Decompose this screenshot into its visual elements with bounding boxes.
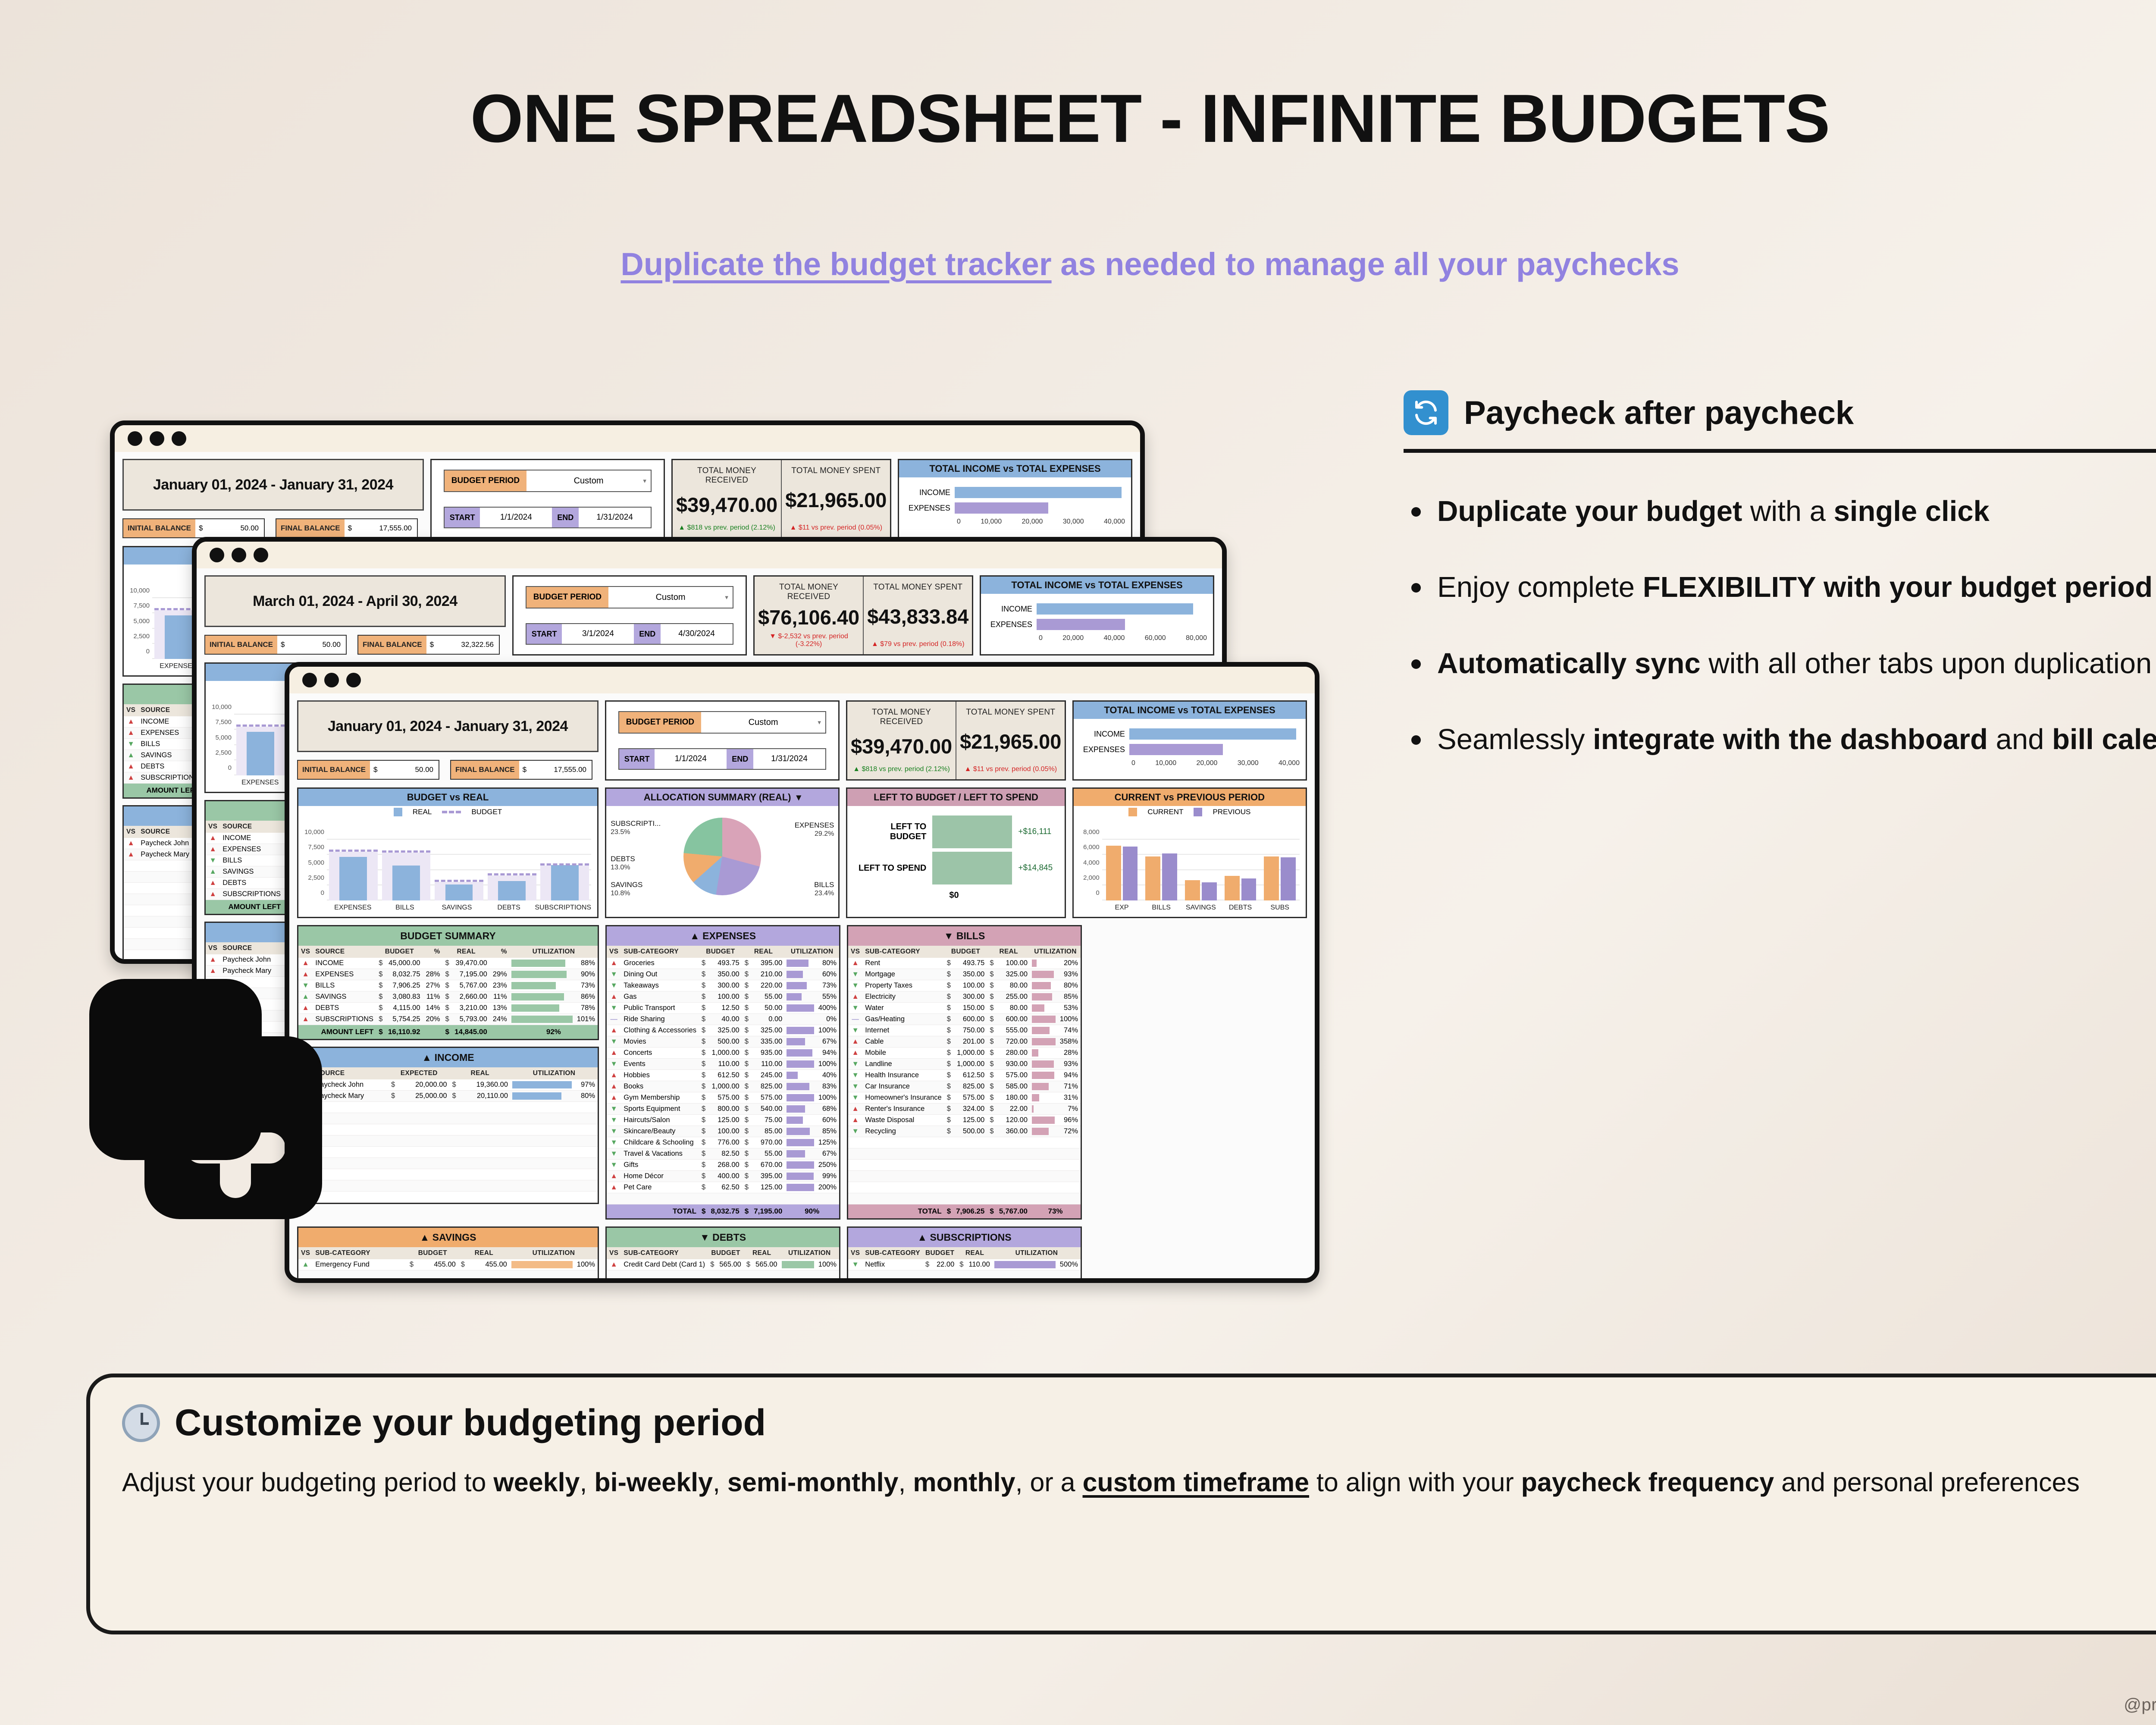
cell-real: 395.00 — [751, 1171, 785, 1182]
table-income: ▲ INCOMEVSSOURCEEXPECTEDREALUTILIZATION▲… — [297, 1047, 599, 1204]
close-icon[interactable] — [128, 431, 142, 446]
cell-util-value: 100% — [816, 1059, 839, 1070]
total-money-received: TOTAL MONEY RECEIVED$39,470.00▲ $818 vs … — [673, 460, 781, 538]
cell-util-value: 80% — [575, 1091, 598, 1102]
window-titlebar[interactable] — [197, 542, 1222, 568]
table-row: ▲Rent$493.75$100.0020% — [848, 958, 1081, 969]
cell-cur: $ — [944, 1003, 953, 1014]
cell-cur: $ — [944, 980, 953, 991]
table-expenses: ▲ EXPENSESVSSUB-CATEGORYBUDGETREALUTILIZ… — [605, 925, 840, 1220]
y-tick: 10,000 — [207, 703, 232, 711]
cell-vs: — — [848, 1014, 862, 1025]
cell-name: Waste Disposal — [862, 1115, 944, 1126]
cell-util-bar — [785, 958, 815, 969]
cell-util-value: 100% — [816, 1025, 839, 1036]
x-tick: 40,000 — [1104, 518, 1125, 526]
bullet-dot — [1411, 659, 1421, 669]
cell-real: 120.00 — [997, 1115, 1030, 1126]
cell-budget: 22.00 — [932, 1259, 957, 1270]
sync-refresh-icon — [1404, 390, 1448, 435]
cell-vs: ▼ — [848, 1025, 862, 1036]
maximize-icon[interactable] — [254, 548, 268, 562]
cell-util-bar — [785, 1182, 815, 1193]
cell-cur2: $ — [742, 1048, 751, 1059]
cell-cur2: $ — [987, 969, 996, 980]
start-end-dates[interactable]: START1/1/2024END1/31/2024 — [444, 507, 652, 528]
cell-cur2: $ — [987, 1126, 996, 1137]
x-tick: 60,000 — [1145, 634, 1166, 642]
cell-cur: $ — [944, 1115, 953, 1126]
legend-real: REAL — [413, 808, 432, 816]
cell-budget: 776.00 — [708, 1137, 742, 1148]
cell-cur2: $ — [987, 991, 996, 1003]
bar-previous — [1123, 847, 1138, 900]
table-row-empty — [848, 1193, 1081, 1204]
cell-cur2: $ — [742, 1059, 751, 1070]
bar-real — [498, 881, 526, 900]
cell-real: 22.00 — [997, 1104, 1030, 1115]
cell-cur: $ — [389, 1079, 398, 1091]
cell-cur2: $ — [987, 1059, 996, 1070]
table-row-empty — [607, 1282, 839, 1283]
window-titlebar[interactable] — [289, 667, 1315, 693]
callout-title: Customize your budgeting period — [175, 1402, 766, 1444]
cell-real: 19,360.00 — [459, 1079, 511, 1091]
cell-real: 930.00 — [997, 1059, 1030, 1070]
table-title: BUDGET SUMMARY — [298, 926, 598, 946]
cell-util-value: 88% — [574, 958, 598, 969]
table-row-empty — [848, 1148, 1081, 1160]
cell-util-bar — [785, 1059, 815, 1070]
cell-real: 255.00 — [997, 991, 1030, 1003]
chart-title: CURRENT vs PREVIOUS PERIOD — [1074, 789, 1306, 806]
cell-rpct: 13% — [490, 1003, 510, 1014]
y-tick: 2,000 — [1075, 874, 1100, 881]
start-end-dates[interactable]: START1/1/2024END1/31/2024 — [618, 748, 826, 770]
customize-period-callout: Customize your budgeting period Adjust y… — [86, 1374, 2156, 1634]
cell-cur2: $ — [458, 1259, 467, 1270]
cell-util-bar — [510, 1014, 574, 1025]
clock-icon — [122, 1404, 160, 1442]
money-totals: TOTAL MONEY RECEIVED$39,470.00▲ $818 vs … — [846, 700, 1066, 781]
cell-real: 575.00 — [751, 1092, 785, 1104]
pie-label: BILLS23.4% — [814, 880, 834, 898]
table-row: ▲Books$1,000.00$825.0083% — [607, 1081, 839, 1092]
cell-cur2: $ — [443, 991, 452, 1003]
cell-name: Renter's Insurance — [862, 1104, 944, 1115]
cell-cur: $ — [944, 1081, 953, 1092]
close-icon[interactable] — [210, 548, 224, 562]
pie-label: SUBSCRIPTI...23.5% — [611, 819, 661, 837]
cell-vs: ▲ — [848, 1115, 862, 1126]
cell-budget: 350.00 — [708, 969, 742, 980]
cell-util-value: 100% — [574, 1259, 598, 1270]
col-real: REAL — [443, 946, 490, 958]
cell-real: 39,470.00 — [452, 958, 490, 969]
chart-title[interactable]: ALLOCATION SUMMARY (REAL) ▾ — [606, 789, 838, 806]
cell-util-value: 31% — [1057, 1092, 1081, 1104]
cell-name: INCOME — [313, 958, 376, 969]
table-row-empty — [298, 1270, 598, 1282]
table-row: ▲Gas$100.00$55.0055% — [607, 991, 839, 1003]
cell-vs: ▼ — [607, 969, 621, 980]
cell-cur2: $ — [742, 969, 751, 980]
y-tick: 5,000 — [125, 618, 150, 625]
cell-vs: ▼ — [848, 1081, 862, 1092]
cell-util-value: 100% — [816, 1259, 839, 1270]
table-row: ▼Recycling$500.00$360.0072% — [848, 1126, 1081, 1137]
cell-budget: 4,115.00 — [385, 1003, 423, 1014]
cell-util-bar — [785, 1126, 815, 1137]
cell-util-value: 55% — [816, 991, 839, 1003]
chart-title: TOTAL INCOME vs TOTAL EXPENSES — [981, 577, 1213, 594]
x-tick: SAVINGS — [1181, 904, 1221, 912]
cell-util-value: 53% — [1057, 1003, 1081, 1014]
cell-vs: ▲ — [206, 966, 220, 977]
date-range-block: March 01, 2024 - April 30, 2024INITIAL B… — [204, 575, 506, 655]
cell-util-bar — [1030, 958, 1057, 969]
cell-real: 5,793.00 — [452, 1014, 490, 1025]
cell-cur2: $ — [742, 1137, 751, 1148]
table-row: ▲Hobbies$612.50$245.0040% — [607, 1070, 839, 1081]
cell-cur: $ — [389, 1091, 398, 1102]
callout-bold-paycheck-frequency: paycheck frequency — [1521, 1468, 1774, 1497]
cell-cur: $ — [699, 1092, 708, 1104]
x-tick: 0 — [1131, 759, 1135, 767]
table-footer: TOTAL$7,906.25$5,767.0073% — [848, 1204, 1081, 1219]
cell-budget: 62.50 — [708, 1182, 742, 1193]
bar-previous — [1162, 853, 1177, 900]
cell-real: 80.00 — [997, 1003, 1030, 1014]
footer-label: AMOUNT LEFT — [206, 900, 283, 914]
final-balance: FINAL BALANCE$17,555.00 — [276, 518, 418, 538]
pie-label: DEBTS13.0% — [611, 854, 635, 872]
cell-vs: ▲ — [607, 1048, 621, 1059]
cell-rpct: 24% — [490, 1014, 510, 1025]
y-tick: 5,000 — [207, 734, 232, 741]
sheet-top-row: January 01, 2024 - January 31, 2024INITI… — [297, 700, 1307, 781]
cell-name: BILLS — [220, 855, 283, 866]
cell-vs: ▲ — [607, 1259, 621, 1270]
cell-vs: ▲ — [124, 750, 138, 761]
budget-period-select[interactable]: BUDGET PERIODCustom — [444, 470, 652, 492]
cell-budget: 110.00 — [708, 1059, 742, 1070]
spreadsheet-window[interactable]: January 01, 2024 - January 31, 2024INITI… — [285, 662, 1319, 1283]
features-panel: Paycheck after paycheck Duplicate your b… — [1404, 390, 2156, 797]
cell-budget: 325.00 — [708, 1025, 742, 1036]
cell-vs: ▼ — [607, 1126, 621, 1137]
x-tick: 40,000 — [1279, 759, 1300, 767]
cell-cur2: $ — [443, 958, 452, 969]
cell-budget: 8,032.75 — [385, 969, 423, 980]
cell-util-bar — [785, 991, 815, 1003]
cell-cur2: $ — [443, 969, 452, 980]
table-row: ▲Renter's Insurance$324.00$22.007% — [848, 1104, 1081, 1115]
cell-util-value: 93% — [1057, 969, 1081, 980]
y-tick: 2,500 — [207, 749, 232, 756]
cell-budget: 300.00 — [953, 991, 987, 1003]
y-tick: 7,500 — [125, 602, 150, 609]
cell-name: Health Insurance — [862, 1070, 944, 1081]
table-row-empty — [848, 1270, 1081, 1282]
callout-text-2: to align with your — [1309, 1468, 1521, 1497]
cell-name: Sports Equipment — [621, 1104, 699, 1115]
table-row: ▲Paycheck Mary$25,000.00$20,110.0080% — [298, 1091, 598, 1102]
axis-label-expenses: EXPENSES — [987, 620, 1037, 629]
cell-cur: $ — [376, 980, 385, 991]
table-row: ▲DEBTS$4,115.0014%$3,210.0013%78% — [298, 1003, 598, 1014]
x-tick: 0 — [957, 518, 961, 526]
bar-current — [1106, 846, 1121, 900]
legend-current: CURRENT — [1147, 808, 1183, 816]
cell-real: 395.00 — [751, 958, 785, 969]
cell-real: 360.00 — [997, 1126, 1030, 1137]
sheet-tables-row-2: ▲ SAVINGSVSSUB-CATEGORYBUDGETREALUTILIZA… — [297, 1226, 1307, 1283]
minimize-icon[interactable] — [232, 548, 246, 562]
cell-cur2: $ — [987, 1036, 996, 1048]
cell-name: Gas/Heating — [862, 1014, 944, 1025]
bullet-strong-2: FLEXIBILITY with your budget period — [1643, 571, 2153, 603]
cell-cur2: $ — [987, 1025, 996, 1036]
cell-budget: 300.00 — [708, 980, 742, 991]
cell-cur: $ — [699, 969, 708, 980]
cell-util-bar — [510, 1003, 574, 1014]
col-real: REAL — [450, 1067, 511, 1079]
cell-util-value: 86% — [574, 991, 598, 1003]
cell-name: Gas — [621, 991, 699, 1003]
axis-label-expenses: EXPENSES — [905, 504, 955, 513]
cell-budget: 1,000.00 — [708, 1048, 742, 1059]
table-row: ▼Netflix$22.00$110.00500% — [848, 1259, 1081, 1270]
table-row: ▼Car Insurance$825.00$585.0071% — [848, 1081, 1081, 1092]
x-tick: SUBS — [1260, 904, 1300, 912]
minimize-icon[interactable] — [150, 431, 164, 446]
cell-name: Travel & Vacations — [621, 1148, 699, 1160]
bar-current — [1185, 880, 1200, 900]
col-vs: VS — [298, 946, 313, 958]
cell-cur2: $ — [987, 1014, 996, 1025]
col-real: REAL — [742, 946, 785, 958]
total-money-spent: TOTAL MONEY SPENT$21,965.00▲ $11 vs prev… — [956, 702, 1065, 779]
cell-cur: $ — [944, 1048, 953, 1059]
table-row: ▼Internet$750.00$555.0074% — [848, 1025, 1081, 1036]
ltb-value: +$16,111 — [1012, 827, 1051, 837]
table-row: ▲Pet Care$62.50$125.00200% — [607, 1182, 839, 1193]
table-row: ▼Travel & Vacations$82.50$55.0067% — [607, 1148, 839, 1160]
y-tick: 2,500 — [300, 874, 324, 881]
zero-label: $0 — [949, 891, 959, 900]
table-row: ▲Paycheck John$20,000.00$19,360.0097% — [298, 1079, 598, 1091]
bar-group — [380, 840, 433, 900]
date-range: March 01, 2024 - April 30, 2024 — [204, 575, 506, 627]
bar-real — [445, 884, 473, 901]
close-icon[interactable] — [302, 673, 317, 687]
bullet-plain: with a — [1742, 495, 1833, 527]
cell-util-bar — [785, 1148, 815, 1160]
cell-util-value: 73% — [816, 980, 839, 991]
cell-util-bar — [1030, 991, 1057, 1003]
budget-period-select[interactable]: BUDGET PERIODCustom — [526, 586, 733, 608]
table-row-empty — [607, 1270, 839, 1282]
chart-title: LEFT TO BUDGET / LEFT TO SPEND — [847, 789, 1064, 806]
cell-cur2: $ — [742, 1182, 751, 1193]
table-row-empty — [848, 1137, 1081, 1148]
cell-cur2: $ — [987, 1003, 996, 1014]
callout-bold-monthly: monthly — [913, 1468, 1015, 1497]
window-titlebar[interactable] — [115, 425, 1140, 452]
cell-cur: $ — [699, 1182, 708, 1193]
cell-budget: 750.00 — [953, 1025, 987, 1036]
cell-real: 2,660.00 — [452, 991, 490, 1003]
bullet-dot — [1411, 583, 1421, 593]
table-title: ▲ SAVINGS — [298, 1228, 598, 1247]
cell-real: 670.00 — [751, 1160, 785, 1171]
cell-cur: $ — [944, 1126, 953, 1137]
cell-vs: ▲ — [206, 878, 220, 889]
cell-name: Dining Out — [621, 969, 699, 980]
table-row-empty — [298, 1135, 598, 1147]
date-range: January 01, 2024 - January 31, 2024 — [297, 700, 599, 752]
cell-bpct — [423, 958, 443, 969]
cell-real: 565.00 — [753, 1259, 780, 1270]
x-tick: DEBTS — [483, 904, 535, 912]
cell-real: 180.00 — [997, 1092, 1030, 1104]
col-budget: BUDGET — [708, 1247, 744, 1259]
cell-util-value: 200% — [816, 1182, 839, 1193]
cell-util-bar — [1030, 980, 1057, 991]
cell-cur2: $ — [742, 1036, 751, 1048]
cell-cur: $ — [376, 969, 385, 980]
table-row: ▲Concerts$1,000.00$935.0094% — [607, 1048, 839, 1059]
lts-label: LEFT TO SPEND — [852, 863, 932, 873]
cell-vs: ▲ — [848, 1104, 862, 1115]
cell-util-value: 90% — [574, 969, 598, 980]
cell-name: Netflix — [862, 1259, 923, 1270]
budget-vs-real-panel: BUDGET vs REALREALBUDGET02,5005,0007,500… — [297, 787, 599, 918]
cell-budget: 3,080.83 — [385, 991, 423, 1003]
cell-name: Credit Card Debt (Card 1) — [621, 1259, 708, 1270]
table-row: ▲SUBSCRIPTIONS$5,754.2520%$5,793.0024%10… — [298, 1014, 598, 1025]
x-tick: BILLS — [379, 904, 431, 912]
bar-group — [1260, 840, 1300, 900]
y-tick: 0 — [207, 764, 232, 772]
cell-real: 220.00 — [751, 980, 785, 991]
total-money-received: TOTAL MONEY RECEIVED$76,106.40▼ $-2,532 … — [755, 577, 863, 654]
cell-budget: 565.00 — [717, 1259, 743, 1270]
x-tick: 20,000 — [1022, 518, 1043, 526]
cell-cur2: $ — [742, 1003, 751, 1014]
cell-cur: $ — [944, 1025, 953, 1036]
cell-vs: ▲ — [124, 716, 138, 728]
bar-real — [551, 865, 579, 900]
cell-util-bar — [510, 980, 574, 991]
table-title: ▲ SUBSCRIPTIONS — [848, 1228, 1081, 1247]
cell-real: 75.00 — [751, 1115, 785, 1126]
sep-1: , — [580, 1468, 594, 1497]
allocation-summary-panel: ALLOCATION SUMMARY (REAL) ▾SUBSCRIPTI...… — [605, 787, 840, 918]
maximize-icon[interactable] — [172, 431, 186, 446]
cell-budget: 500.00 — [708, 1036, 742, 1048]
table-row-empty — [298, 1192, 598, 1203]
cell-cur: $ — [407, 1259, 416, 1270]
list-item: Duplicate your budget with a single clic… — [1404, 492, 2156, 530]
cell-util-bar — [785, 1070, 815, 1081]
duplicate-plus-icon[interactable] — [88, 978, 328, 1220]
cell-budget: 268.00 — [708, 1160, 742, 1171]
cell-cur: $ — [699, 980, 708, 991]
col-budget: EXPECTED — [389, 1067, 449, 1079]
cell-cur: $ — [699, 991, 708, 1003]
total-money-received: TOTAL MONEY RECEIVED$39,470.00▲ $818 vs … — [847, 702, 956, 779]
cell-util-bar — [510, 991, 574, 1003]
callout-bold-semimonthly: semi-monthly — [727, 1468, 899, 1497]
bullet-strong-3: bill calendar — [2052, 723, 2156, 756]
initial-balance: INITIAL BALANCE$50.00 — [204, 635, 347, 655]
cell-bpct: 11% — [423, 991, 443, 1003]
y-tick: 4,000 — [1075, 859, 1100, 866]
subtitle-link[interactable]: Duplicate the budget tracker — [620, 246, 1051, 282]
minimize-icon[interactable] — [324, 673, 339, 687]
money-totals: TOTAL MONEY RECEIVED$39,470.00▲ $818 vs … — [671, 459, 891, 539]
cell-name: SAVINGS — [220, 866, 283, 878]
x-tick: SAVINGS — [431, 904, 483, 912]
cell-util-value: 99% — [816, 1171, 839, 1182]
cell-name: INCOME — [220, 833, 283, 844]
cell-cur: $ — [699, 1148, 708, 1160]
cell-vs: ▼ — [124, 739, 138, 750]
table-row: ▲Waste Disposal$125.00$120.0096% — [848, 1115, 1081, 1126]
table-row: ▼Gifts$268.00$670.00250% — [607, 1160, 839, 1171]
col-vs: VS — [206, 942, 220, 954]
cell-cur: $ — [699, 1104, 708, 1115]
cell-cur: $ — [699, 1003, 708, 1014]
y-tick: 8,000 — [1075, 828, 1100, 836]
col-vs: VS — [607, 946, 621, 958]
cell-name: SUBSCRIPTIONS — [220, 889, 283, 900]
cell-real: 125.00 — [751, 1182, 785, 1193]
cell-real: 335.00 — [751, 1036, 785, 1048]
cell-vs: ▲ — [124, 728, 138, 739]
table-row: ▲SAVINGS$3,080.8311%$2,660.0011%86% — [298, 991, 598, 1003]
bar-group — [1102, 840, 1142, 900]
col-budget: BUDGET — [376, 946, 423, 958]
bullet-strong: Duplicate your budget — [1437, 495, 1742, 527]
cell-vs: ▼ — [848, 1259, 862, 1270]
cell-cur2: $ — [957, 1259, 966, 1270]
cell-name: Public Transport — [621, 1003, 699, 1014]
cell-rpct: 23% — [490, 980, 510, 991]
pie-label: SAVINGS10.8% — [611, 880, 642, 898]
cell-util-value: 94% — [816, 1048, 839, 1059]
pie-label: EXPENSES29.2% — [795, 821, 834, 838]
cell-budget: 612.50 — [708, 1070, 742, 1081]
start-end-dates[interactable]: START3/1/2024END4/30/2024 — [526, 623, 733, 645]
cell-vs: ▲ — [607, 1182, 621, 1193]
cell-util-bar — [785, 980, 815, 991]
budget-period-select[interactable]: BUDGET PERIODCustom — [618, 711, 826, 734]
chart-title: BUDGET vs REAL — [298, 789, 597, 806]
cell-budget: 20,000.00 — [398, 1079, 449, 1091]
callout-text-1: Adjust your budgeting period to — [122, 1468, 493, 1497]
cell-budget: 825.00 — [953, 1081, 987, 1092]
callout-link-custom-timeframe[interactable]: custom timeframe — [1083, 1468, 1309, 1497]
maximize-icon[interactable] — [346, 673, 361, 687]
list-item: Seamlessly integrate with the dashboard … — [1404, 721, 2156, 759]
axis-label-expenses: EXPENSES — [1080, 745, 1129, 754]
x-tick: 10,000 — [1155, 759, 1176, 767]
cell-util-bar — [1030, 1036, 1057, 1048]
cell-util-value: 71% — [1057, 1081, 1081, 1092]
